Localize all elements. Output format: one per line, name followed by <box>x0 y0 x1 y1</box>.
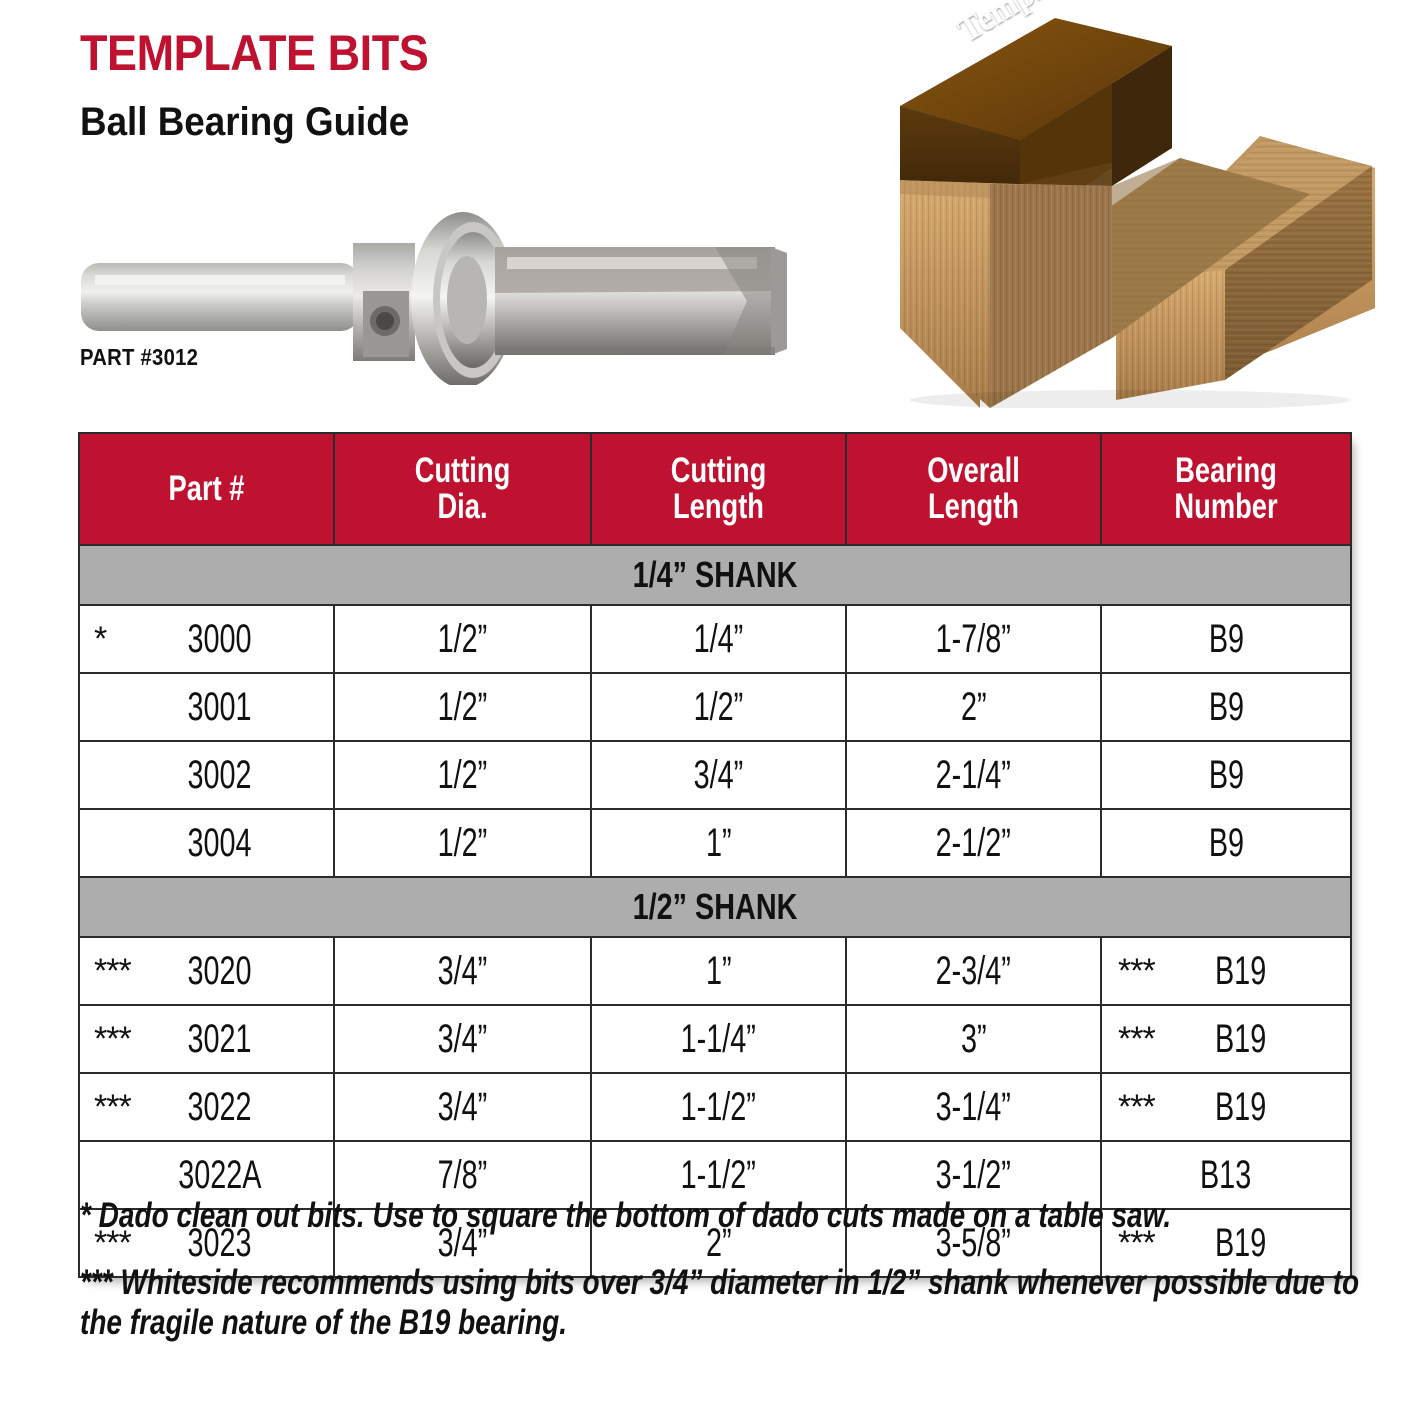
cell-cutting-dia-value: 1/2” <box>438 617 488 662</box>
col-header-cutting-length: Cutting Length <box>591 433 846 545</box>
cell-cutting-length-value: 1/2” <box>694 685 744 730</box>
cell-part-number: 3001 <box>79 673 334 741</box>
template-dado-illustration <box>880 8 1390 408</box>
col-header-bearing-number: Bearing Number <box>1101 433 1351 545</box>
page-subtitle: Ball Bearing Guide <box>80 100 409 145</box>
cell-bearing-number: B9 <box>1101 741 1351 809</box>
col-header-bearing-number-l1: Bearing <box>1129 453 1322 489</box>
bearing-number-value: B19 <box>1215 949 1266 994</box>
shank-section-header: 1/2” SHANK <box>79 877 1351 937</box>
cell-overall-length: 1-7/8” <box>846 605 1101 673</box>
col-header-overall-length-l1: Overall <box>875 453 1072 489</box>
part-number-label: PART #3012 <box>80 344 198 371</box>
cell-bearing-number: ***B19 <box>1101 1005 1351 1073</box>
cell-overall-length-value: 2” <box>961 685 987 730</box>
col-header-cutting-length-l1: Cutting <box>620 453 817 489</box>
header-row: Part # Cutting Dia. Cutting Length Overa… <box>79 433 1351 545</box>
cell-part-number: ***3020 <box>79 937 334 1005</box>
part-number-value: 3002 <box>187 753 251 798</box>
cell-part-number: ***3022 <box>79 1073 334 1141</box>
cell-part-number: ***3021 <box>79 1005 334 1073</box>
cell-cutting-dia: 1/2” <box>334 809 591 877</box>
cell-cutting-length: 3/4” <box>591 741 846 809</box>
cell-cutting-length-value: 3/4” <box>694 753 744 798</box>
cell-cutting-dia-value: 3/4” <box>438 1017 488 1062</box>
shank-section-label: 1/4” SHANK <box>79 545 1351 605</box>
table-row: 30041/2”1”2-1/2”B9 <box>79 809 1351 877</box>
part-number-value: 3000 <box>187 617 251 662</box>
cell-cutting-dia-value: 1/2” <box>438 821 488 866</box>
part-number-value: 3021 <box>187 1017 251 1062</box>
bearing-number-value: B19 <box>1215 1017 1266 1062</box>
col-header-bearing-number-l2: Number <box>1129 489 1322 525</box>
table-row: 30021/2”3/4”2-1/4”B9 <box>79 741 1351 809</box>
footnote-whiteside: *** Whiteside recommends using bits over… <box>80 1263 1360 1344</box>
col-header-overall-length-l2: Length <box>875 489 1072 525</box>
col-header-cutting-dia: Cutting Dia. <box>334 433 591 545</box>
shank-section-label: 1/2” SHANK <box>79 877 1351 937</box>
cell-overall-length: 2-1/2” <box>846 809 1101 877</box>
table-body: 1/4” SHANK*30001/2”1/4”1-7/8”B930011/2”1… <box>79 545 1351 1277</box>
bearing-number-value: B9 <box>1208 617 1243 662</box>
part-number-value: 3022 <box>187 1085 251 1130</box>
cell-cutting-length-value: 1-1/4” <box>681 1017 756 1062</box>
page-title: TEMPLATE BITS <box>80 24 428 82</box>
table-row: ***30213/4”1-1/4”3”***B19 <box>79 1005 1351 1073</box>
cell-cutting-dia: 3/4” <box>334 1073 591 1141</box>
cell-overall-length-value: 3-1/2” <box>936 1153 1011 1198</box>
table-header: Part # Cutting Dia. Cutting Length Overa… <box>79 433 1351 545</box>
bearing-number-value: B19 <box>1215 1085 1266 1130</box>
cell-overall-length-value: 2-1/2” <box>936 821 1011 866</box>
cell-overall-length: 3” <box>846 1005 1101 1073</box>
cell-cutting-dia: 1/2” <box>334 741 591 809</box>
bearing-footnote-marker: *** <box>1118 1022 1155 1056</box>
cell-cutting-dia: 3/4” <box>334 937 591 1005</box>
cell-cutting-length-value: 1-1/2” <box>681 1153 756 1198</box>
cell-bearing-number: B9 <box>1101 809 1351 877</box>
cell-overall-length: 2” <box>846 673 1101 741</box>
cell-cutting-length: 1-1/2” <box>591 1073 846 1141</box>
cell-cutting-length-value: 1/4” <box>694 617 744 662</box>
footnote-marker: *** <box>94 1022 131 1056</box>
col-header-cutting-dia-l2: Dia. <box>363 489 562 525</box>
footnotes: * Dado clean out bits. Use to square the… <box>80 1196 1365 1370</box>
cell-cutting-dia: 3/4” <box>334 1005 591 1073</box>
col-header-part: Part # <box>79 433 334 545</box>
table-row: *30001/2”1/4”1-7/8”B9 <box>79 605 1351 673</box>
cell-cutting-dia-value: 1/2” <box>438 685 488 730</box>
table-row: ***30223/4”1-1/2”3-1/4”***B19 <box>79 1073 1351 1141</box>
cell-bearing-number: ***B19 <box>1101 937 1351 1005</box>
col-header-cutting-length-l2: Length <box>620 489 817 525</box>
cell-part-number: 3004 <box>79 809 334 877</box>
part-number-value: 3020 <box>187 949 251 994</box>
cell-overall-length-value: 3-1/4” <box>936 1085 1011 1130</box>
bearing-footnote-marker: *** <box>1118 954 1155 988</box>
cell-cutting-length: 1” <box>591 809 846 877</box>
bearing-number-value: B13 <box>1200 1153 1251 1198</box>
cell-part-number: 3002 <box>79 741 334 809</box>
bearing-number-value: B9 <box>1208 685 1243 730</box>
bearing-number-value: B9 <box>1208 753 1243 798</box>
cell-overall-length-value: 1-7/8” <box>936 617 1011 662</box>
part-number-value: 3001 <box>187 685 251 730</box>
cell-cutting-dia: 1/2” <box>334 605 591 673</box>
cell-cutting-dia: 1/2” <box>334 673 591 741</box>
bearing-number-value: B9 <box>1208 821 1243 866</box>
cell-bearing-number: B9 <box>1101 673 1351 741</box>
part-number-value: 3022A <box>178 1153 261 1198</box>
cell-overall-length: 2-3/4” <box>846 937 1101 1005</box>
cell-overall-length-value: 2-3/4” <box>936 949 1011 994</box>
cell-cutting-length: 1” <box>591 937 846 1005</box>
footnote-marker: *** <box>94 954 131 988</box>
table-row: 30011/2”1/2”2”B9 <box>79 673 1351 741</box>
catalog-page: TEMPLATE BITS Ball Bearing Guide <box>0 0 1424 1424</box>
cell-cutting-length: 1/2” <box>591 673 846 741</box>
cell-bearing-number: ***B19 <box>1101 1073 1351 1141</box>
bearing-footnote-marker: *** <box>1118 1090 1155 1124</box>
cell-cutting-dia-value: 1/2” <box>438 753 488 798</box>
cell-part-number: *3000 <box>79 605 334 673</box>
cell-cutting-length-value: 1” <box>706 949 732 994</box>
cell-cutting-length-value: 1” <box>706 821 732 866</box>
cell-cutting-length-value: 1-1/2” <box>681 1085 756 1130</box>
part-number-value: 3004 <box>187 821 251 866</box>
cell-cutting-dia-value: 3/4” <box>438 949 488 994</box>
spec-table: Part # Cutting Dia. Cutting Length Overa… <box>78 432 1352 1278</box>
cell-cutting-length: 1-1/4” <box>591 1005 846 1073</box>
col-header-overall-length: Overall Length <box>846 433 1101 545</box>
footnote-marker: * <box>94 622 106 656</box>
cell-overall-length: 2-1/4” <box>846 741 1101 809</box>
col-header-cutting-dia-l1: Cutting <box>363 453 562 489</box>
footnote-dado: * Dado clean out bits. Use to square the… <box>80 1196 1360 1237</box>
footnote-marker: *** <box>94 1090 131 1124</box>
spec-table-wrap: Part # Cutting Dia. Cutting Length Overa… <box>78 432 1350 1278</box>
cell-overall-length-value: 3” <box>961 1017 987 1062</box>
cell-cutting-length: 1/4” <box>591 605 846 673</box>
cell-cutting-dia-value: 7/8” <box>438 1153 488 1198</box>
cell-cutting-dia-value: 3/4” <box>438 1085 488 1130</box>
table-row: ***30203/4”1”2-3/4”***B19 <box>79 937 1351 1005</box>
cell-overall-length-value: 2-1/4” <box>936 753 1011 798</box>
col-header-part-l1: Part # <box>108 471 305 507</box>
cell-bearing-number: B9 <box>1101 605 1351 673</box>
shank-section-header: 1/4” SHANK <box>79 545 1351 605</box>
cell-overall-length: 3-1/4” <box>846 1073 1101 1141</box>
